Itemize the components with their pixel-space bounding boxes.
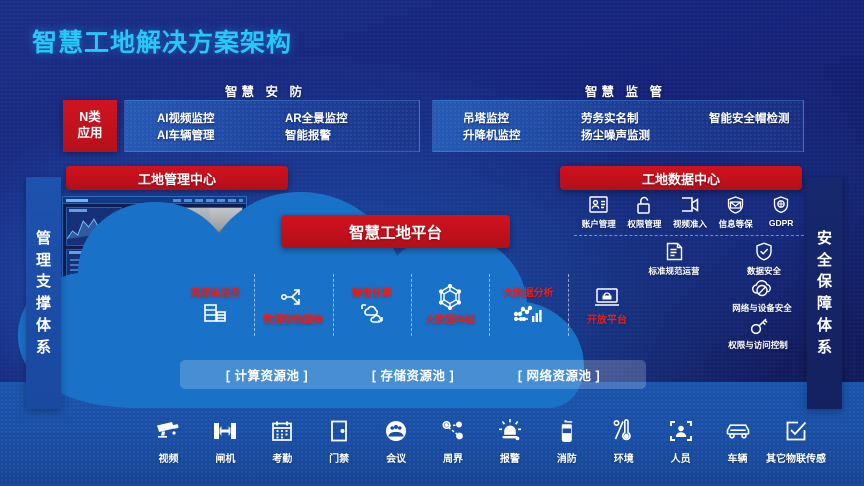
cloud-service-label: 大数据存储: [425, 311, 475, 326]
security-item-account-management[interactable]: 账户管理: [576, 193, 622, 230]
data-intelligence-icon: [278, 284, 308, 310]
door-access-icon: [329, 416, 349, 446]
security-item-label: 账户管理: [582, 218, 616, 230]
app-item-tower-crane[interactable]: 吊塔监控: [463, 110, 581, 126]
resource-pool-network[interactable]: [ 网络资源池 ]: [486, 365, 632, 384]
cloud-service-label: 弹性计算: [352, 284, 392, 299]
app-item-smart-alarm[interactable]: 智能报警: [285, 127, 419, 143]
bigdata-storage-icon: [435, 284, 465, 310]
security-item-standard-operation[interactable]: 标准规范运营: [638, 240, 710, 277]
perimeter-icon: [441, 416, 465, 446]
turnstile-icon: [212, 416, 238, 446]
device-label: 其它物联传感: [766, 450, 826, 465]
band-left-char-1: 理: [36, 250, 51, 272]
security-item-gdpr[interactable]: GDPR: [758, 193, 804, 230]
account-card-icon: [589, 193, 608, 216]
cctv-camera-icon: [155, 416, 181, 446]
band-left-char-0: 管: [36, 228, 51, 250]
app-item-ai-vehicle[interactable]: AI车辆管理: [157, 127, 285, 143]
open-platform-icon: [592, 284, 622, 310]
cloud-service-open-platform[interactable]: 开放平台: [568, 268, 646, 342]
app-item-dust-noise[interactable]: 扬尘噪声监测: [581, 127, 709, 143]
device-door-access[interactable]: 门禁: [311, 416, 368, 465]
diagram-canvas: 智慧工地解决方案架构 智慧 安 防 智慧 监 管 N类 应用 AI视频监控 AR…: [0, 0, 864, 486]
app-item-labor-realname[interactable]: 劳务实名制: [581, 110, 709, 126]
security-grid-divider: [574, 235, 804, 236]
device-label: 报警: [500, 450, 520, 465]
device-vehicle[interactable]: 车辆: [709, 416, 766, 465]
security-item-label: 标准规范运营: [648, 265, 699, 277]
security-item-label: 权限与访问控制: [728, 339, 788, 351]
band-left-char-2: 支: [36, 271, 51, 293]
security-item-label: 信息等保: [719, 218, 753, 230]
device-label: 周界: [443, 450, 463, 465]
device-label: 环境: [614, 450, 634, 465]
band-right-char-5: 系: [817, 337, 832, 359]
n-app-line1: N类: [79, 110, 101, 126]
device-environment[interactable]: 环境: [595, 416, 652, 465]
alarm-siren-icon: [498, 416, 522, 446]
device-personnel[interactable]: 人员: [652, 416, 709, 465]
cloud-service-label: 流媒体服务: [190, 284, 240, 299]
device-turnstile[interactable]: 闸机: [197, 416, 254, 465]
device-label: 门禁: [329, 450, 349, 465]
device-meeting[interactable]: 会议: [368, 416, 425, 465]
device-sensor-row: 视频 闸机 考勤: [140, 404, 826, 476]
page-title: 智慧工地解决方案架构: [32, 23, 292, 59]
n-app-line2: 应用: [77, 126, 102, 142]
resource-pool-compute[interactable]: [ 计算资源池 ]: [194, 365, 340, 384]
resource-pool-bar: [ 计算资源池 ] [ 存储资源池 ] [ 网络资源池 ]: [180, 360, 646, 389]
cloud-service-label: 大数据分析: [503, 284, 553, 299]
app-item-helmet-detect[interactable]: 智能安全帽检测: [709, 110, 803, 126]
security-item-label: 视频准入: [673, 218, 707, 230]
cloud-service-bigdata-storage[interactable]: 大数据存储: [411, 268, 489, 342]
access-control-key-icon: [749, 314, 768, 337]
application-panel-supervise: 吊塔监控 劳务实名制 智能安全帽检测 升降机监控 扬尘噪声监测: [432, 100, 804, 152]
cloud-service-label: 开放平台: [587, 311, 627, 326]
device-fire[interactable]: 消防: [538, 416, 595, 465]
section-heading-supervise: 智慧 监 管: [585, 81, 666, 100]
security-item-label: 权限管理: [627, 218, 661, 230]
app-item-hoist-monitor[interactable]: 升降机监控: [463, 127, 581, 143]
cloud-service-data-intelligence[interactable]: 数据智能服务: [254, 268, 332, 342]
meeting-icon: [384, 416, 408, 446]
device-video[interactable]: 视频: [140, 416, 197, 465]
unlock-icon: [636, 193, 653, 216]
person-detect-icon: [669, 416, 693, 446]
cloud-service-bigdata-analytics[interactable]: 大数据分析: [489, 268, 567, 342]
device-label: 视频: [158, 450, 178, 465]
cloud-service-elastic-compute[interactable]: 弹性计算: [333, 268, 411, 342]
network-device-security-icon: [751, 277, 773, 300]
attendance-calendar-icon: [271, 416, 293, 446]
environment-thermometer-icon: [612, 416, 636, 446]
band-right-char-1: 全: [817, 250, 832, 272]
cloud-service-media-server[interactable]: 流媒体服务: [176, 268, 254, 342]
device-label: 车辆: [728, 450, 748, 465]
band-left-char-3: 撑: [36, 293, 51, 315]
device-label: 人员: [671, 450, 691, 465]
banner-smart-site-platform[interactable]: 智慧工地平台: [281, 215, 510, 248]
security-item-network-device-security[interactable]: 网络与设备安全: [726, 277, 798, 314]
media-server-icon: [200, 300, 230, 326]
security-item-label: GDPR: [769, 218, 794, 228]
device-alarm[interactable]: 报警: [481, 416, 538, 465]
app-item-ar-panorama[interactable]: AR全景监控: [285, 110, 419, 126]
band-right-char-0: 安: [817, 228, 832, 250]
device-other-iot[interactable]: 其它物联传感: [766, 416, 826, 465]
section-heading-security: 智慧 安 防: [225, 81, 306, 100]
device-label: 闸机: [215, 450, 235, 465]
device-label: 会议: [386, 450, 406, 465]
elastic-compute-icon: [357, 300, 387, 326]
security-item-info-protection[interactable]: 信息等保: [713, 193, 759, 230]
device-attendance[interactable]: 考勤: [254, 416, 311, 465]
shield-check-icon: [755, 240, 773, 263]
band-right-char-2: 保: [817, 271, 832, 293]
band-left-char-4: 体: [36, 315, 51, 337]
vehicle-icon: [725, 416, 751, 446]
security-item-label: 网络与设备安全: [732, 302, 792, 314]
security-item-label: 数据安全: [747, 265, 781, 277]
device-label: 考勤: [272, 450, 292, 465]
security-item-video-access[interactable]: 视频准入: [667, 193, 713, 230]
application-panel-security: AI视频监控 AR全景监控 AI车辆管理 智能报警: [124, 100, 420, 152]
vertical-band-management-support: 管 理 支 撑 体 系: [26, 177, 61, 409]
bigdata-analytics-icon: [513, 300, 543, 326]
envelope-shield-icon: [726, 193, 745, 216]
app-item-ai-video[interactable]: AI视频监控: [157, 110, 285, 126]
n-class-application-tab[interactable]: N类 应用: [63, 100, 117, 152]
document-standard-icon: [666, 240, 683, 263]
device-label: 消防: [557, 450, 577, 465]
band-right-char-3: 障: [817, 293, 832, 315]
device-perimeter[interactable]: 周界: [425, 416, 482, 465]
security-item-access-control[interactable]: 权限与访问控制: [722, 314, 794, 351]
iot-sensor-check-icon: [785, 416, 807, 446]
fire-extinguisher-icon: [558, 416, 576, 446]
vertical-band-security-guarantee: 安 全 保 障 体 系: [807, 177, 842, 409]
cloud-service-list: 流媒体服务 数据智能服务 弹性计算: [176, 268, 646, 342]
band-right-char-4: 体: [817, 315, 832, 337]
gdpr-shield-icon: [772, 193, 790, 216]
resource-pool-storage[interactable]: [ 存储资源池 ]: [340, 365, 486, 384]
security-item-permission-management[interactable]: 权限管理: [622, 193, 668, 230]
security-item-data-security[interactable]: 数据安全: [728, 240, 800, 277]
band-left-char-5: 系: [36, 337, 51, 359]
cloud-service-label: 数据智能服务: [263, 311, 323, 326]
video-access-icon: [680, 193, 700, 216]
